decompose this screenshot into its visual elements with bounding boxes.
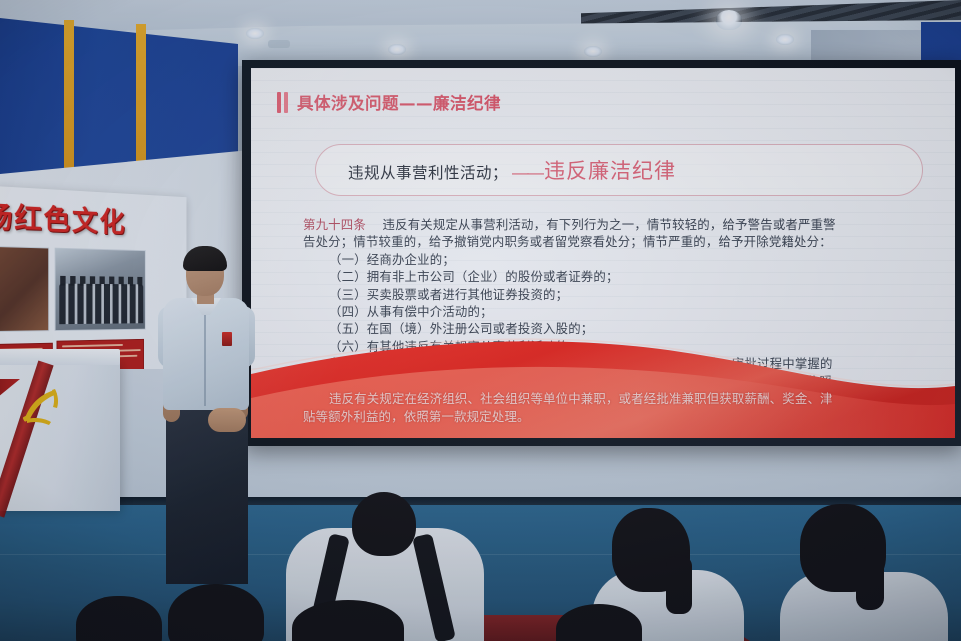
- podium-top: [0, 349, 120, 365]
- podium-red-chevron: [0, 379, 20, 397]
- led-display-screen[interactable]: 具体涉及问题——廉洁纪律 违规从事营利性活动； —— 违反廉洁纪律 第九十四条: [251, 68, 955, 438]
- body-line: 告处分；情节较重的，给予撤销党内职务或者留党察看处分；情节严重的，给予开除党籍处…: [303, 233, 915, 250]
- callout-left-text: 违规从事营利性活动；: [348, 161, 508, 183]
- hammer-and-sickle-emblem: [18, 385, 64, 425]
- exhibit-photo-left: [0, 246, 49, 332]
- body-line: 贴等额外利益的，依照第一款规定处理。: [303, 408, 923, 426]
- presentation-slide: 具体涉及问题——廉洁纪律 违规从事营利性活动； —— 违反廉洁纪律 第九十四条: [251, 68, 955, 438]
- slide-title: 具体涉及问题——廉洁纪律: [297, 90, 501, 114]
- audience-head: [352, 492, 416, 556]
- presenter-hands: [208, 408, 246, 432]
- ceiling-vent-icon: [268, 40, 290, 48]
- article-label: 第九十四条: [303, 217, 366, 232]
- ceiling-downlight-icon: [246, 28, 264, 39]
- body-line: 违反有关规定在经济组织、社会组织等单位中兼职，或者经批准兼职但获取薪酬、奖金、津: [303, 390, 923, 408]
- callout-dash: ——: [512, 163, 542, 183]
- body-line: （三）买卖股票或者进行其他证券投资的；: [303, 286, 915, 303]
- presenter-shirt-placket: [204, 310, 206, 406]
- presenter-badge: [222, 332, 232, 346]
- ceiling-spotlight-icon: [716, 10, 742, 30]
- body-line: （一）经商办企业的；: [303, 251, 915, 268]
- board-title: 扬红色文化: [0, 193, 126, 240]
- audience-ponytail: [666, 556, 692, 614]
- body-line: （二）拥有非上市公司（企业）的股份或者证券的；: [303, 268, 915, 285]
- slide-title-group: 具体涉及问题——廉洁纪律: [277, 90, 501, 114]
- speaker-podium: [0, 361, 120, 511]
- slide-callout-box: 违规从事营利性活动； —— 违反廉洁纪律: [315, 144, 923, 196]
- stage-edge-shadow: [0, 497, 961, 505]
- ceiling-downlight-icon: [776, 34, 794, 45]
- room-background: 扬红色文化: [0, 0, 961, 641]
- led-display-bezel: 具体涉及问题——廉洁纪律 违规从事营利性活动； —— 违反廉洁纪律 第九十四条: [242, 60, 961, 446]
- ceiling-downlight-icon: [584, 46, 602, 57]
- slide-body-text-on-wave: 违反有关规定在经济组织、社会组织等单位中兼职，或者经批准兼职但获取薪酬、奖金、津…: [303, 390, 923, 426]
- audience-head: [168, 584, 264, 641]
- title-accent-bars-icon: [277, 92, 288, 113]
- photo-figure-suits: [59, 284, 143, 325]
- ceiling-downlight-icon: [388, 44, 406, 55]
- article-text: 违反有关规定从事营利活动，有下列行为之一，情节较轻的，给予警告或者严重警: [383, 217, 836, 232]
- callout-highlight-text: 违反廉洁纪律: [544, 155, 676, 185]
- exhibit-photo-group: [55, 248, 146, 331]
- lecture-room-photo: 扬红色文化: [0, 0, 961, 641]
- body-line-article: 第九十四条 违反有关规定从事营利活动，有下列行为之一，情节较轻的，给予警告或者严…: [303, 216, 915, 233]
- audience-ponytail: [856, 548, 884, 610]
- body-line: （四）从事有偿中介活动的；: [303, 303, 915, 320]
